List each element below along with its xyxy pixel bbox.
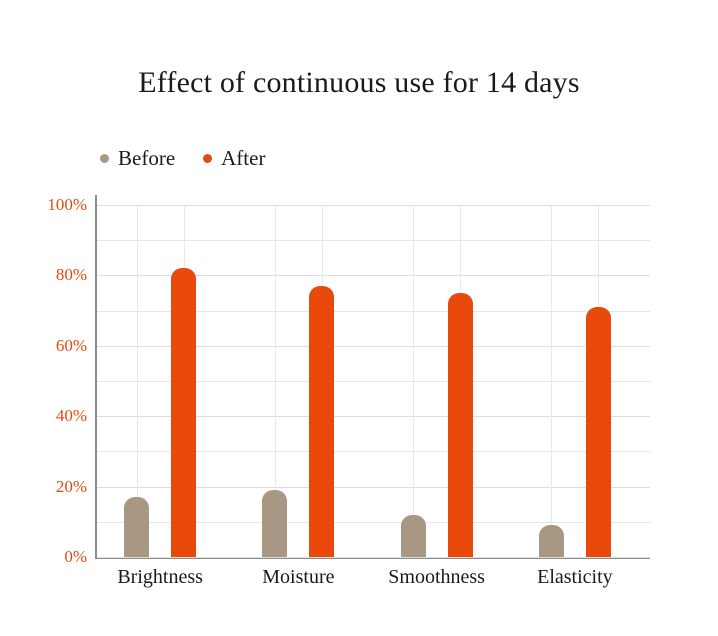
y-axis-tick-label: 20% (56, 477, 87, 497)
legend-label-before: Before (118, 148, 175, 169)
y-axis-line (95, 195, 97, 557)
y-axis-tick-label: 100% (47, 195, 87, 215)
y-axis-tick-label: 80% (56, 265, 87, 285)
chart-title: Effect of continuous use for 14 days (0, 66, 718, 100)
bar-after-brightness[interactable] (171, 268, 196, 557)
legend-item-before[interactable]: Before (100, 148, 175, 169)
legend-swatch-before-icon (100, 154, 109, 163)
bar-before-moisture[interactable] (262, 490, 287, 557)
legend-swatch-after-icon (203, 154, 212, 163)
chart-container: Effect of continuous use for 14 days Bef… (0, 0, 718, 636)
y-axis-tick-label: 40% (56, 406, 87, 426)
y-axis-tick-label: 60% (56, 336, 87, 356)
bar-after-smoothness[interactable] (448, 293, 473, 557)
gridline-vertical (551, 205, 552, 557)
x-axis-label-smoothness: Smoothness (388, 566, 485, 589)
gridline-vertical (413, 205, 414, 557)
bar-after-elasticity[interactable] (586, 307, 611, 557)
bar-after-moisture[interactable] (309, 286, 334, 557)
gridline-horizontal (97, 557, 650, 558)
y-axis-tick-label: 0% (64, 547, 87, 567)
plot-area: 0%20%40%60%80%100% (97, 205, 650, 557)
gridline-horizontal (97, 240, 650, 241)
bar-before-brightness[interactable] (124, 497, 149, 557)
bar-before-smoothness[interactable] (401, 515, 426, 557)
chart-legend: Before After (100, 148, 265, 169)
x-axis-label-elasticity: Elasticity (537, 566, 613, 589)
bar-before-elasticity[interactable] (539, 525, 564, 557)
x-axis-label-brightness: Brightness (117, 566, 203, 589)
x-axis-label-moisture: Moisture (262, 566, 334, 589)
legend-label-after: After (221, 148, 265, 169)
gridline-horizontal (97, 205, 650, 206)
legend-item-after[interactable]: After (203, 148, 265, 169)
